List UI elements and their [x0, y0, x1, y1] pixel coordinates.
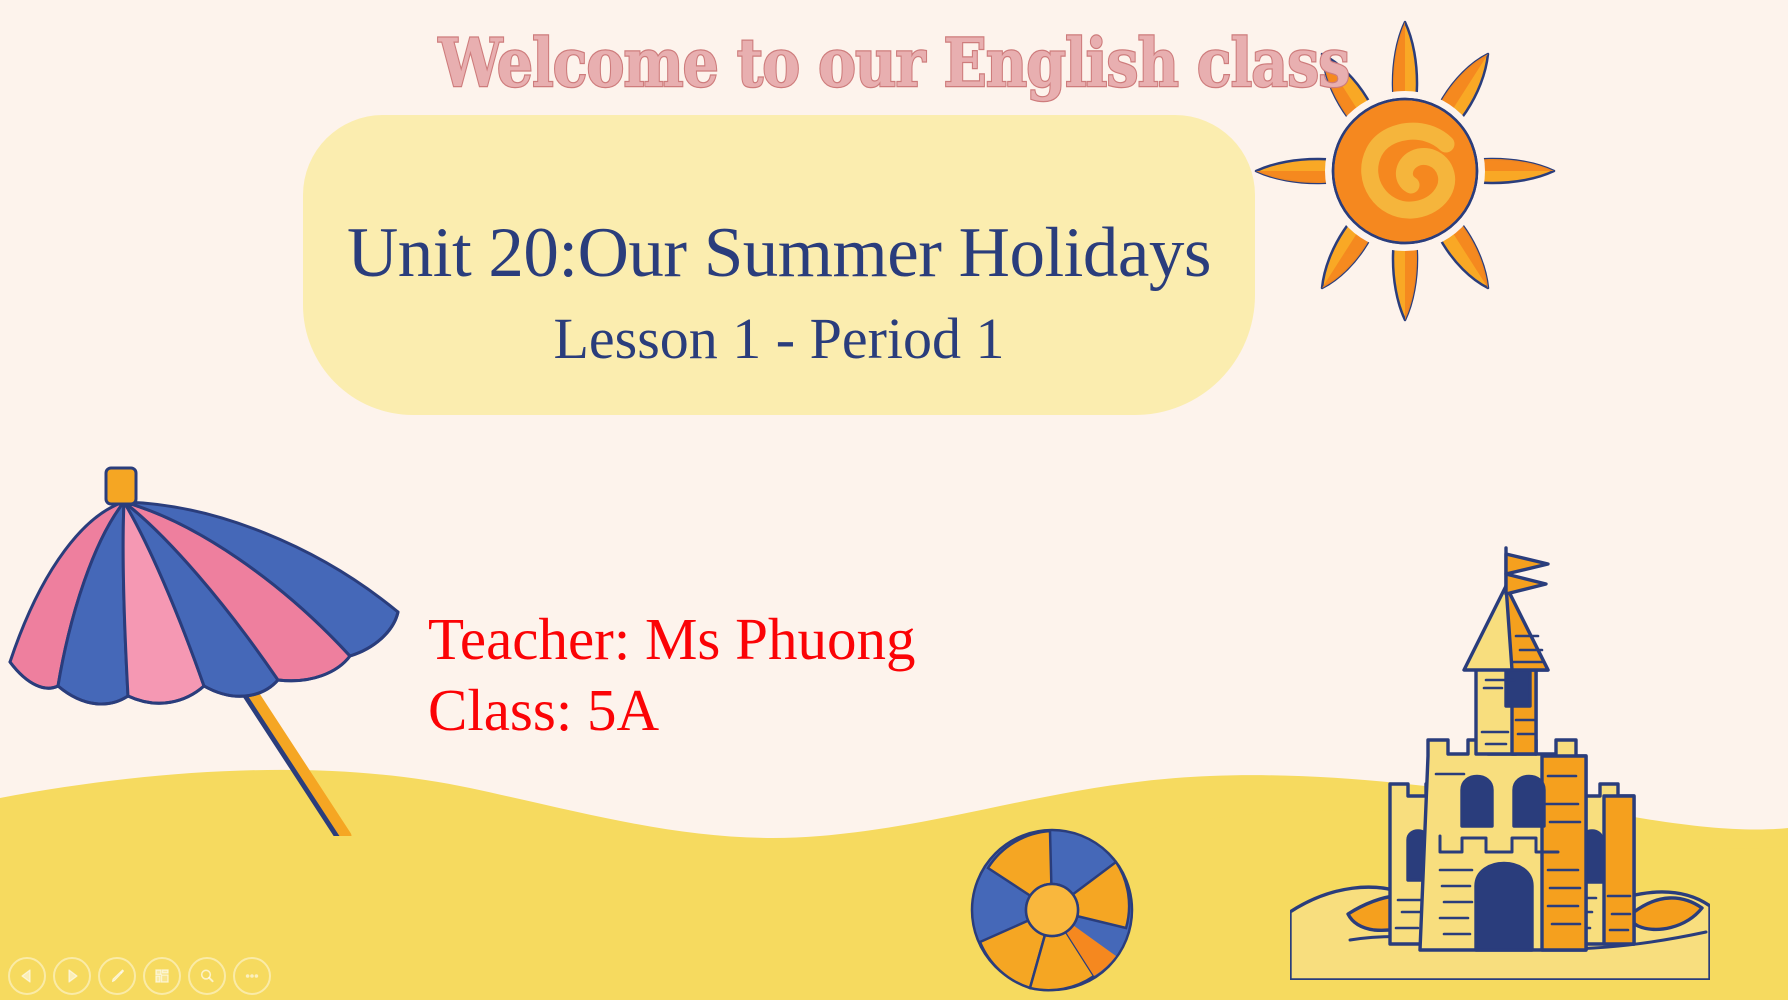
triangle-right-icon	[63, 967, 81, 985]
title-panel-content: Unit 20:Our Summer Holidays Lesson 1 - P…	[303, 115, 1255, 415]
zoom-button[interactable]	[188, 957, 226, 995]
slides-icon	[152, 966, 172, 986]
pen-icon	[107, 966, 127, 986]
slideshow-toolbar[interactable]	[8, 957, 271, 995]
slides-overview-button[interactable]	[143, 957, 181, 995]
triangle-left-icon	[18, 967, 36, 985]
next-slide-button[interactable]	[53, 957, 91, 995]
pen-tool-button[interactable]	[98, 957, 136, 995]
class-line: Class: 5A	[428, 675, 915, 746]
unit-title: Unit 20:Our Summer Holidays	[347, 217, 1211, 291]
class-info-block: Teacher: Ms Phuong Class: 5A	[428, 604, 915, 747]
teacher-line: Teacher: Ms Phuong	[428, 604, 915, 675]
previous-slide-button[interactable]	[8, 957, 46, 995]
lesson-subtitle: Lesson 1 - Period 1	[553, 301, 1004, 376]
welcome-heading: Welcome to our English class	[125, 30, 1663, 96]
magnifier-icon	[197, 966, 217, 986]
more-options-button[interactable]	[233, 957, 271, 995]
ellipsis-icon	[242, 966, 262, 986]
presentation-slide: Welcome to our English class Unit 20:Our…	[0, 0, 1788, 1000]
